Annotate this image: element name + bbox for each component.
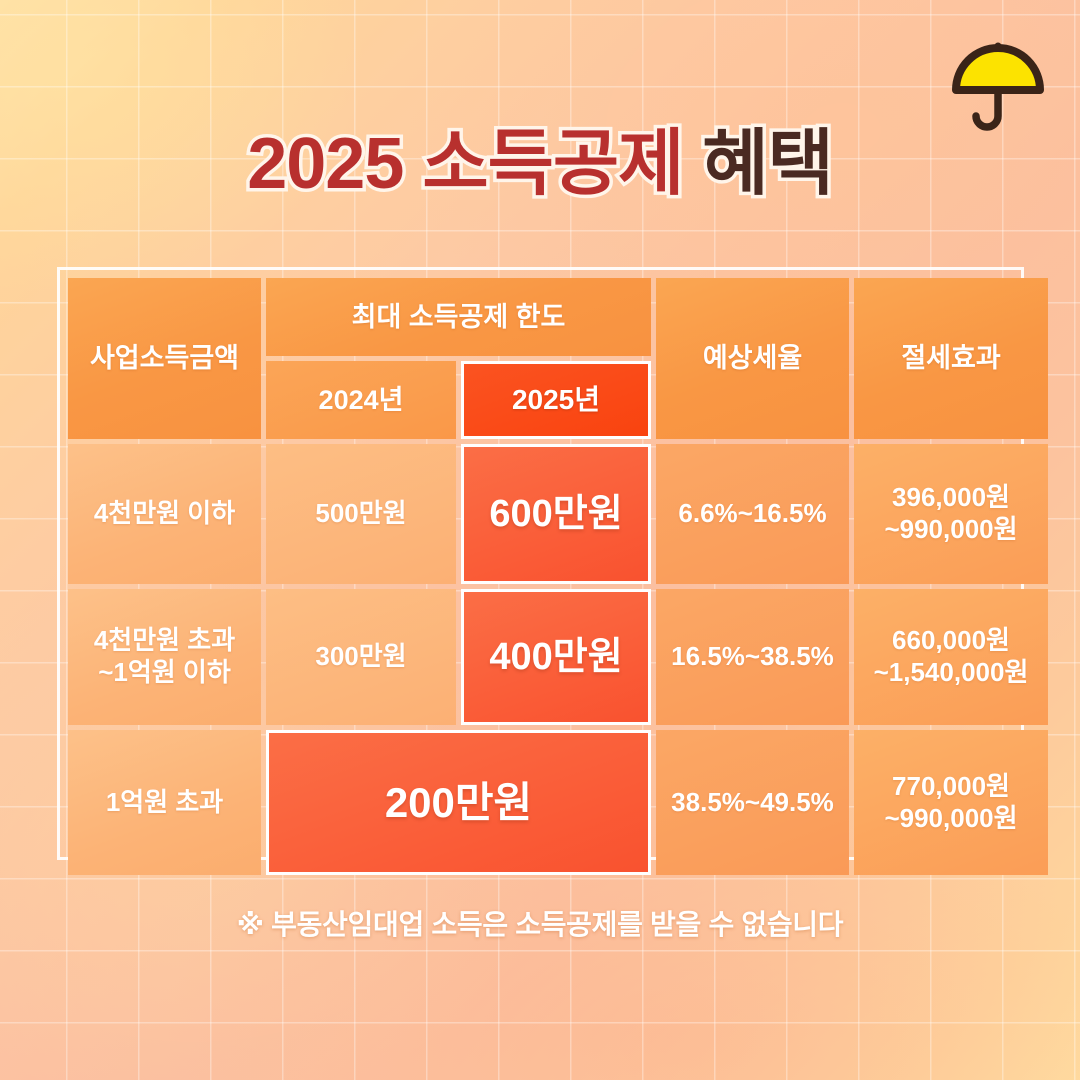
table-row-2-income: 4천만원 초과 ~1억원 이하: [68, 589, 261, 725]
header-year-2025: 2025년: [461, 361, 651, 439]
table-row-1-tax-rate: 6.6%~16.5%: [656, 444, 849, 584]
page-title-secondary: 혜택: [683, 124, 832, 204]
table-row-2-limit-2024: 300만원: [266, 589, 456, 725]
table-row-3-tax-saving: 770,000원 ~990,000원: [854, 730, 1048, 875]
table-row-3-income: 1억원 초과: [68, 730, 261, 875]
header-income-amount: 사업소득금액: [68, 278, 261, 439]
header-tax-saving: 절세효과: [854, 278, 1048, 439]
footnote-text: ※ 부동산임대업 소득은 소득공제를 받을 수 없습니다: [0, 903, 1080, 943]
deduction-table: 사업소득금액 최대 소득공제 한도 예상세율 절세효과 2024년 2025년 …: [57, 267, 1024, 860]
table-row-1-limit-2024: 500만원: [266, 444, 456, 584]
header-year-2024: 2024년: [266, 361, 456, 439]
page-title-primary: 2025 소득공제: [247, 124, 683, 204]
page-title: 2025 소득공제 혜택: [0, 128, 1080, 200]
header-tax-rate: 예상세율: [656, 278, 849, 439]
table-row-2-limit-2025: 400만원: [461, 589, 651, 725]
table-row-2-tax-saving: 660,000원 ~1,540,000원: [854, 589, 1048, 725]
table-row-1-limit-2025: 600만원: [461, 444, 651, 584]
table-row-1-tax-saving: 396,000원 ~990,000원: [854, 444, 1048, 584]
table-row-3-limit-merged: 200만원: [266, 730, 651, 875]
header-limit-group: 최대 소득공제 한도: [266, 278, 651, 356]
table-row-3-tax-rate: 38.5%~49.5%: [656, 730, 849, 875]
table-row-2-tax-rate: 16.5%~38.5%: [656, 589, 849, 725]
infographic-canvas: 2025 소득공제 혜택 사업소득금액 최대 소득공제 한도 예상세율 절세효과…: [0, 0, 1080, 1080]
deduction-table-grid: 사업소득금액 최대 소득공제 한도 예상세율 절세효과 2024년 2025년 …: [68, 278, 1013, 849]
umbrella-icon: [946, 28, 1050, 136]
table-row-1-income: 4천만원 이하: [68, 444, 261, 584]
